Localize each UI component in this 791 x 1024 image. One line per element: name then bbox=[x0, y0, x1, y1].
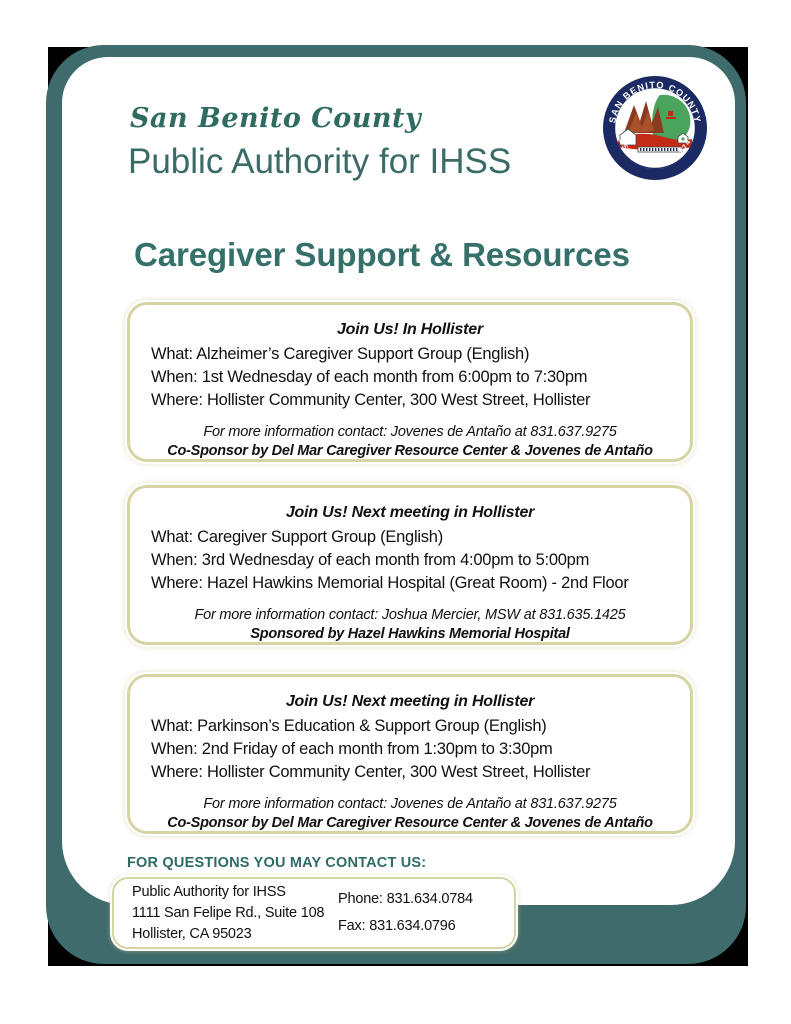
card-heading: Join Us! Next meeting in Hollister bbox=[130, 693, 690, 711]
contact-org-name: Public Authority for IHSS bbox=[132, 882, 338, 903]
card-where: Where: Hazel Hawkins Memorial Hospital (… bbox=[130, 572, 690, 595]
card-when: When: 3rd Wednesday of each month from 4… bbox=[130, 549, 690, 572]
card-what: What: Alzheimer’s Caregiver Support Grou… bbox=[130, 343, 690, 366]
card-sponsor: Co-Sponsor by Del Mar Caregiver Resource… bbox=[130, 815, 690, 831]
support-group-card: Join Us! In Hollister What: Alzheimer’s … bbox=[127, 302, 693, 462]
county-name-script: San Benito County bbox=[130, 103, 421, 134]
card-where: Where: Hollister Community Center, 300 W… bbox=[130, 389, 690, 412]
organization-title: Public Authority for IHSS bbox=[128, 142, 511, 182]
contact-street: 1111 San Felipe Rd., Suite 108 bbox=[132, 903, 338, 924]
card-heading: Join Us! Next meeting in Hollister bbox=[130, 504, 690, 522]
support-group-card: Join Us! Next meeting in Hollister What:… bbox=[127, 674, 693, 834]
card-sponsor: Sponsored by Hazel Hawkins Memorial Hosp… bbox=[130, 626, 690, 642]
card-what: What: Parkinson’s Education & Support Gr… bbox=[130, 715, 690, 738]
flyer-header: San Benito County Public Authority for I… bbox=[62, 57, 735, 207]
contact-fax: Fax: 831.634.0796 bbox=[338, 913, 473, 940]
contact-prompt-label: FOR QUESTIONS YOU MAY CONTACT US: bbox=[127, 855, 426, 871]
card-contact: For more information contact: Jovenes de… bbox=[130, 424, 690, 440]
contact-phone: Phone: 831.634.0784 bbox=[338, 886, 473, 913]
card-what: What: Caregiver Support Group (English) bbox=[130, 526, 690, 549]
contact-address-block: Public Authority for IHSS 1111 San Felip… bbox=[114, 882, 338, 945]
san-benito-county-seal-icon: SAN BENITO COUNTY ESTABLISHED 1874 bbox=[598, 71, 712, 185]
card-when: When: 1st Wednesday of each month from 6… bbox=[130, 366, 690, 389]
contact-info-card: Public Authority for IHSS 1111 San Felip… bbox=[112, 877, 516, 949]
flyer-page: San Benito County Public Authority for I… bbox=[0, 0, 791, 1024]
card-where: Where: Hollister Community Center, 300 W… bbox=[130, 761, 690, 784]
card-contact: For more information contact: Jovenes de… bbox=[130, 796, 690, 812]
card-heading: Join Us! In Hollister bbox=[130, 321, 690, 339]
card-when: When: 2nd Friday of each month from 1:30… bbox=[130, 738, 690, 761]
contact-city-state-zip: Hollister, CA 95023 bbox=[132, 924, 338, 945]
card-sponsor: Co-Sponsor by Del Mar Caregiver Resource… bbox=[130, 443, 690, 459]
page-title: Caregiver Support & Resources bbox=[62, 236, 735, 274]
contact-phone-block: Phone: 831.634.0784 Fax: 831.634.0796 bbox=[338, 886, 473, 940]
card-contact: For more information contact: Joshua Mer… bbox=[130, 607, 690, 623]
support-group-card: Join Us! Next meeting in Hollister What:… bbox=[127, 485, 693, 645]
